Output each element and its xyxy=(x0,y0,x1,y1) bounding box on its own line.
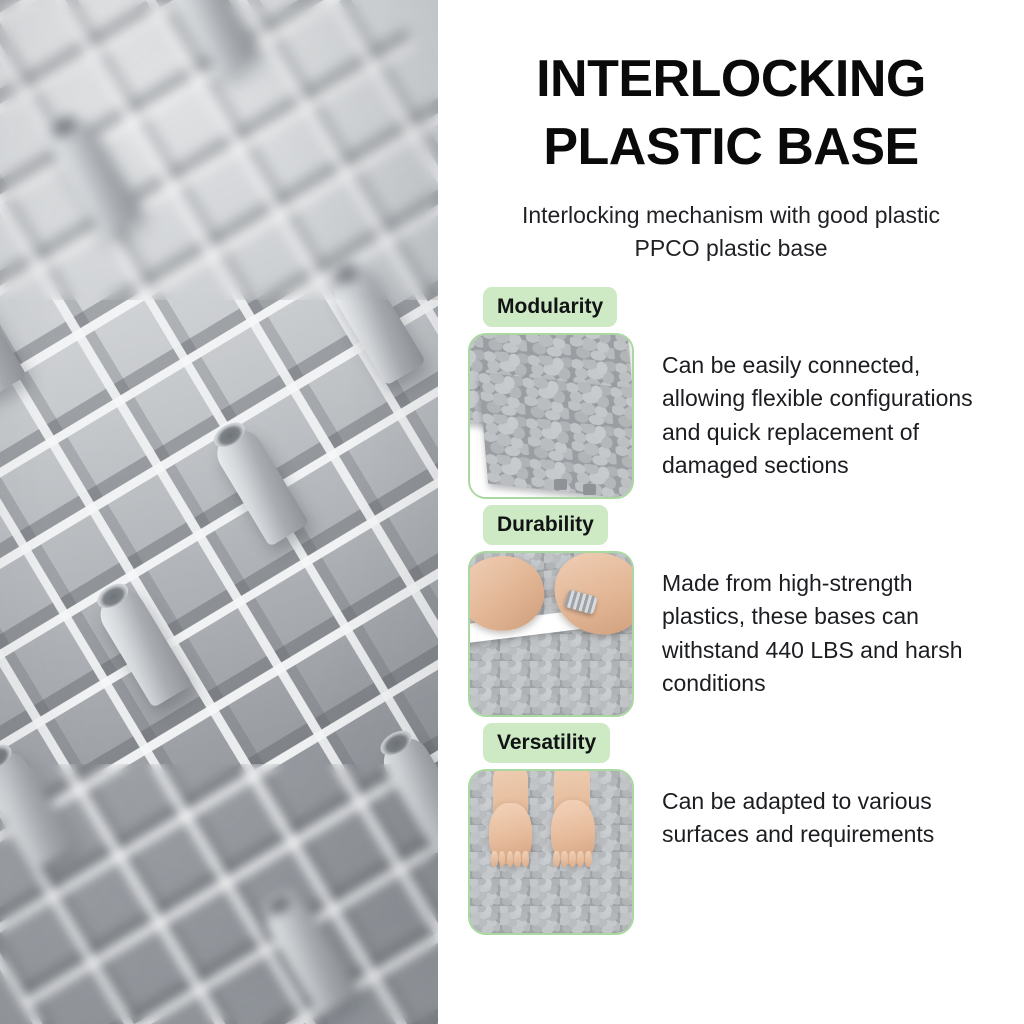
toe xyxy=(553,851,560,868)
feature-item-modularity: Modularity Can be easily con xyxy=(468,287,1024,499)
toe xyxy=(561,851,568,868)
feature-badge-durability: Durability xyxy=(483,505,608,545)
toe xyxy=(577,851,584,868)
feature-badge-versatility: Versatility xyxy=(483,723,610,763)
title-line-2: PLASTIC BASE xyxy=(543,118,918,176)
toe xyxy=(507,851,514,867)
toe xyxy=(569,851,576,868)
grid-post xyxy=(92,583,192,708)
grid-post xyxy=(0,275,27,400)
feature-item-durability: Durability Made from high-strength plast… xyxy=(468,505,1024,717)
hero-product-photo xyxy=(0,0,438,1024)
toes-left xyxy=(491,851,530,867)
toe xyxy=(514,851,521,867)
grid-post xyxy=(375,731,438,856)
thumbnail-art-interlocking-tiles xyxy=(470,335,632,497)
feature-body: Can be adapted to various surfaces and r… xyxy=(468,769,1024,935)
title-line-1: INTERLOCKING xyxy=(536,50,926,108)
foot-left xyxy=(489,803,531,865)
feature-thumbnail-versatility xyxy=(468,769,634,935)
product-feature-infographic: INTERLOCKING PLASTIC BASE Interlocking m… xyxy=(0,0,1024,1024)
toe xyxy=(491,851,498,867)
grid-post xyxy=(209,422,309,547)
feature-list: Modularity Can be easily con xyxy=(438,287,1024,935)
feature-description-durability: Made from high-strength plastics, these … xyxy=(662,551,1024,701)
feature-thumbnail-durability xyxy=(468,551,634,717)
thumbnail-art-hands-joining-mats xyxy=(470,553,632,715)
toe xyxy=(499,851,506,867)
grid-post xyxy=(0,744,76,869)
page-title: INTERLOCKING PLASTIC BASE xyxy=(438,0,1024,181)
feature-thumbnail-modularity xyxy=(468,333,634,499)
feature-item-versatility: Versatility xyxy=(468,723,1024,935)
toe xyxy=(585,851,592,868)
tile-connector-nub xyxy=(554,479,567,490)
feature-body: Can be easily connected, allowing flexib… xyxy=(468,333,1024,499)
feature-body: Made from high-strength plastics, these … xyxy=(468,551,1024,717)
grid-post xyxy=(326,261,426,386)
feature-badge-modularity: Modularity xyxy=(483,287,617,327)
grid-post xyxy=(43,114,143,239)
grid-post xyxy=(259,892,359,1017)
tile-connector-nub xyxy=(583,484,596,495)
hero-posts-layer xyxy=(0,0,438,1024)
foot-right xyxy=(551,800,595,865)
page-subtitle: Interlocking mechanism with good plastic… xyxy=(438,199,1024,264)
toe xyxy=(522,851,529,867)
feature-description-modularity: Can be easily connected, allowing flexib… xyxy=(662,333,1024,483)
toes-right xyxy=(553,851,593,868)
feature-description-versatility: Can be adapted to various surfaces and r… xyxy=(662,769,1024,852)
grid-post xyxy=(160,0,260,77)
thumbnail-art-feet-on-mat xyxy=(470,771,632,933)
content-panel: INTERLOCKING PLASTIC BASE Interlocking m… xyxy=(438,0,1024,1024)
